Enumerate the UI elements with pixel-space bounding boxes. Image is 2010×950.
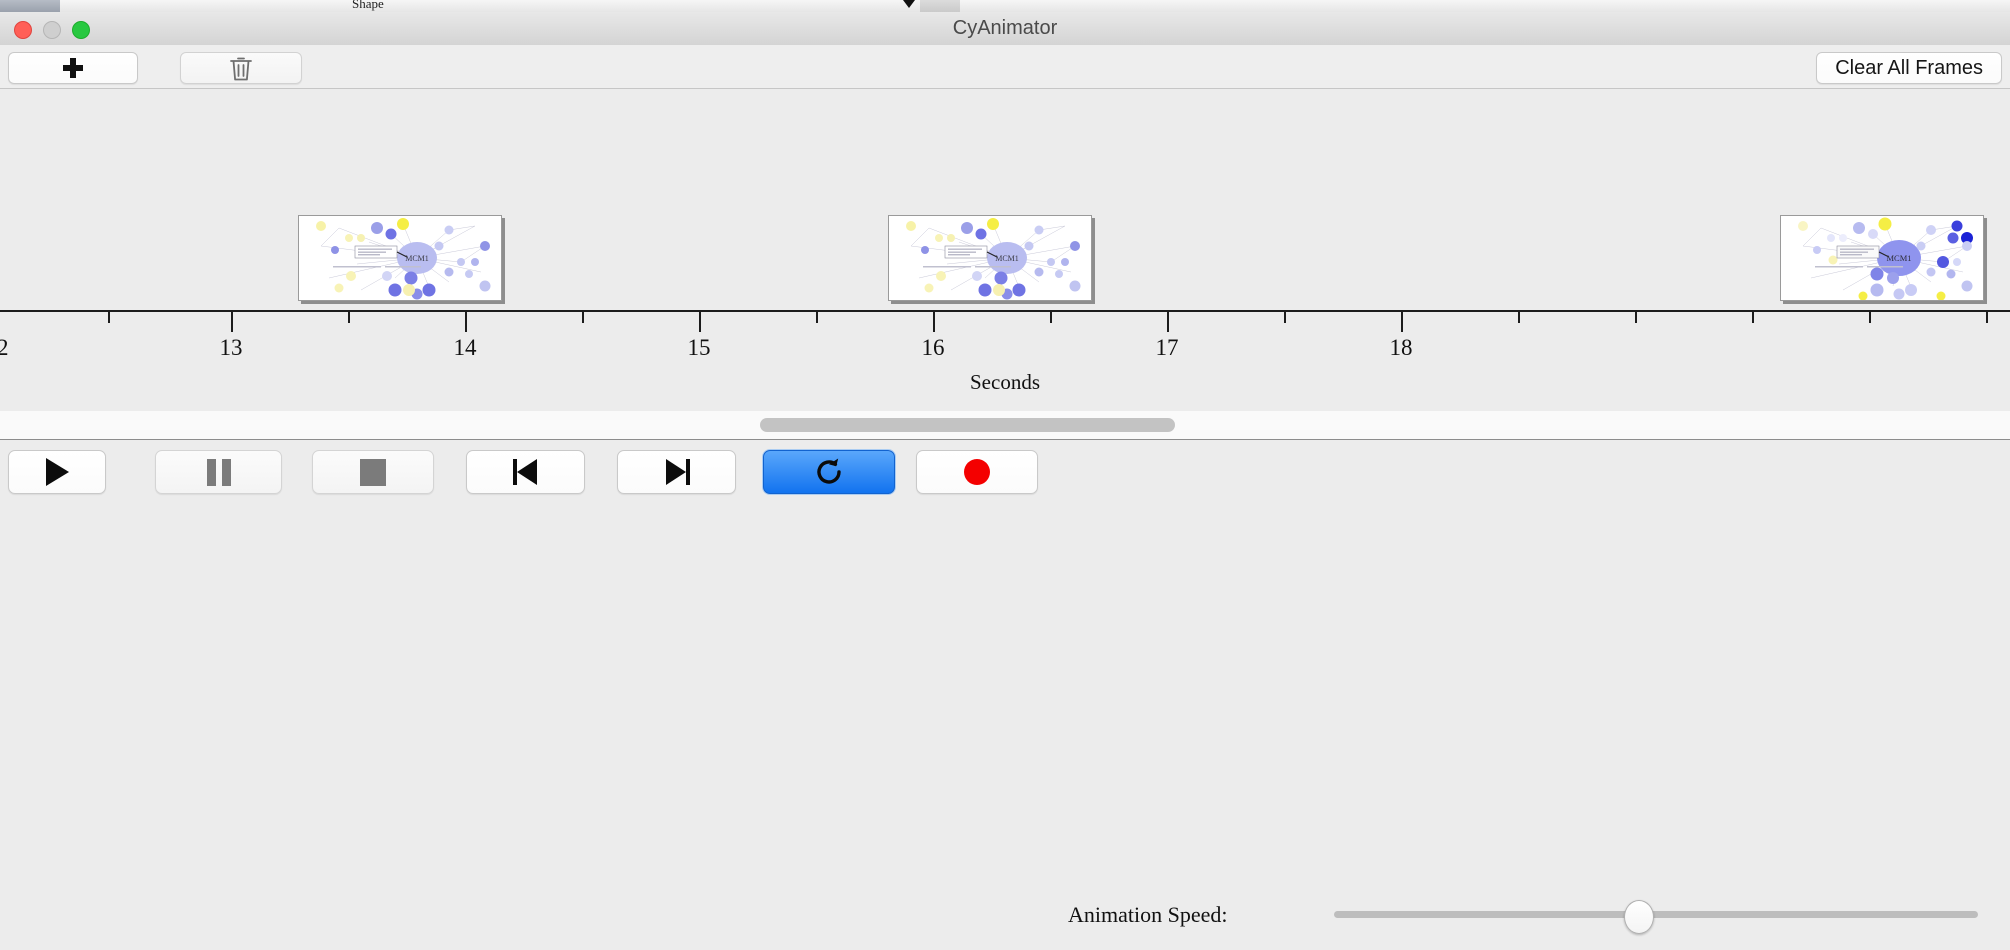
- cyanimator-window: Shape CyAnimator Clear All Frames: [0, 0, 2010, 510]
- background-tab: [920, 0, 961, 12]
- trash-icon: [228, 54, 254, 82]
- timeline-tick-minor: [348, 312, 350, 323]
- timeline-tick-minor: [1752, 312, 1754, 323]
- title-bar: CyAnimator: [0, 12, 2010, 46]
- timeline-tick-label: 12: [0, 335, 9, 361]
- timeline-tick-label: 16: [922, 335, 945, 361]
- svg-text:MCM1: MCM1: [995, 254, 1019, 263]
- plus-icon: [63, 58, 83, 78]
- background-tab: [430, 0, 921, 12]
- timeline-frame-thumbnail[interactable]: MCM1: [1780, 215, 1984, 301]
- pause-button: [155, 450, 282, 494]
- timeline-tick-major: [699, 312, 701, 332]
- timeline-tick-major: [933, 312, 935, 332]
- timeline-tick-minor: [108, 312, 110, 323]
- background-window-label: Shape: [352, 0, 384, 12]
- timeline-tick-label: 14: [454, 335, 477, 361]
- svg-text:MCM1: MCM1: [1886, 253, 1911, 263]
- timeline-tick-major: [1167, 312, 1169, 332]
- timeline-frame-thumbnail[interactable]: MCM1: [888, 215, 1092, 301]
- network-thumbnail-graphic: MCM1: [299, 216, 501, 300]
- svg-text:MCM1: MCM1: [405, 254, 429, 263]
- animation-speed-label: Animation Speed:: [1068, 880, 1227, 950]
- play-icon: [46, 458, 69, 486]
- loop-icon: [813, 456, 845, 488]
- timeline-tick-minor: [1986, 312, 1988, 323]
- timeline-tick-minor: [1869, 312, 1871, 323]
- skip-forward-icon: [664, 459, 690, 485]
- stop-icon: [360, 459, 386, 486]
- pause-icon: [207, 459, 231, 486]
- previous-frame-button[interactable]: [466, 450, 585, 494]
- background-tab: [1800, 0, 2010, 12]
- add-frame-button[interactable]: [8, 52, 138, 84]
- timeline-tick-minor: [1284, 312, 1286, 323]
- frame-toolbar: Clear All Frames: [0, 45, 2010, 89]
- timeline-tick-minor: [1635, 312, 1637, 323]
- timeline-tick-major: [465, 312, 467, 332]
- loop-button[interactable]: [763, 450, 895, 494]
- timeline-tick-minor: [1050, 312, 1052, 323]
- background-tab-selected: [0, 0, 61, 12]
- timeline-panel[interactable]: MCM1: [0, 89, 2010, 411]
- stop-button: [312, 450, 434, 494]
- timeline-scrollbar[interactable]: [0, 411, 2010, 440]
- record-icon: [964, 459, 990, 485]
- window-title: CyAnimator: [0, 12, 2010, 45]
- background-caret-icon: [903, 0, 915, 8]
- timeline-tick-minor: [816, 312, 818, 323]
- background-tab: [210, 0, 241, 12]
- background-tab: [240, 0, 301, 12]
- timeline-axis: [0, 310, 2010, 312]
- next-frame-button[interactable]: [617, 450, 736, 494]
- timeline-tick-label: 15: [688, 335, 711, 361]
- background-tab: [60, 0, 161, 12]
- background-tab: [960, 0, 1801, 12]
- timeline-scrollbar-thumb[interactable]: [760, 418, 1175, 432]
- animation-speed-slider-track[interactable]: [1334, 911, 1978, 918]
- timeline-tick-minor: [1518, 312, 1520, 323]
- timeline-axis-title: Seconds: [0, 370, 2010, 395]
- timeline-tick-major: [231, 312, 233, 332]
- delete-frame-button[interactable]: [180, 52, 302, 84]
- record-button[interactable]: [916, 450, 1038, 494]
- skip-back-icon: [513, 459, 539, 485]
- network-thumbnail-graphic: MCM1: [1781, 216, 1983, 300]
- background-tab: [160, 0, 211, 12]
- background-window-strip: Shape: [0, 0, 2010, 12]
- network-thumbnail-graphic: MCM1: [889, 216, 1091, 300]
- timeline-tick-minor: [582, 312, 584, 323]
- timeline-tick-label: 18: [1390, 335, 1413, 361]
- playback-controls-bar: Animation Speed:: [0, 440, 2010, 510]
- timeline-frame-thumbnail[interactable]: MCM1: [298, 215, 502, 301]
- animation-speed-slider-knob[interactable]: [1624, 900, 1654, 934]
- timeline-tick-major: [1401, 312, 1403, 332]
- timeline-tick-label: 17: [1156, 335, 1179, 361]
- clear-all-frames-button[interactable]: Clear All Frames: [1816, 52, 2002, 84]
- play-button[interactable]: [8, 450, 106, 494]
- timeline-tick-label: 13: [220, 335, 243, 361]
